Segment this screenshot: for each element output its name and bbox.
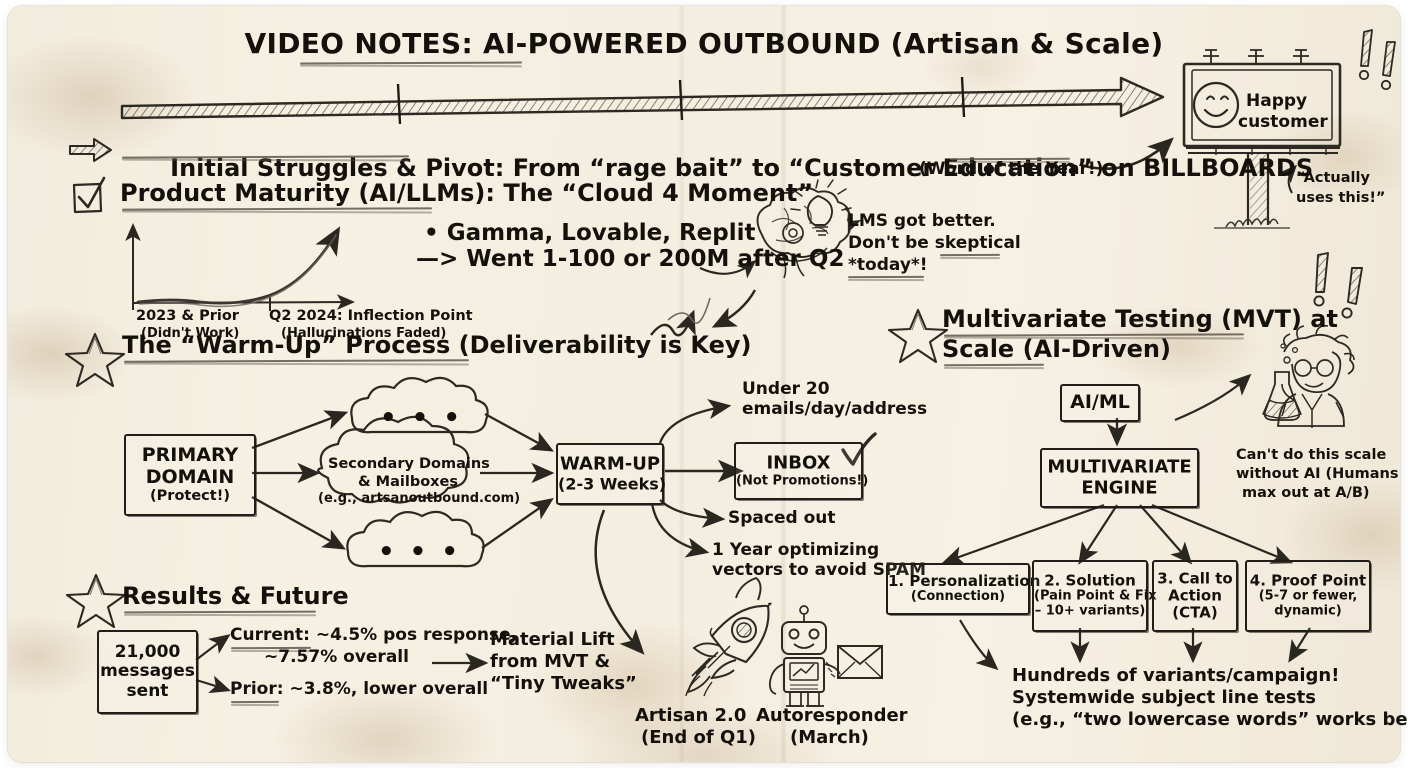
initial-underline-1 — [122, 156, 409, 162]
engine-labels: MULTIVARIATE ENGINE — [1042, 457, 1197, 498]
warmup-underline — [124, 360, 469, 366]
mvt-component-box-1[interactable]: 1. Personalization (Connection) — [886, 563, 1030, 615]
warmup-box-line1: WARM-UP — [558, 455, 662, 476]
engine-line2: ENGINE — [1042, 478, 1197, 499]
mvt-comp-2-sub2: – 10+ variants) — [1034, 605, 1146, 620]
branch-3-line1: 1 Year optimizing — [712, 541, 879, 560]
brain-note-line3: *today*! — [848, 256, 928, 275]
branch-1-line2: emails/day/address — [742, 400, 927, 419]
messages-sent-box[interactable]: 21,000 messages sent — [97, 630, 198, 714]
warmup-box-line2: (2-3 Weeks) — [558, 475, 662, 493]
branch-1-line1: Under 20 — [742, 380, 830, 399]
billboard-line1: Happy — [1246, 92, 1307, 111]
mvt-component-box-2[interactable]: 2. Solution (Pain Point & Fix – 10+ vari… — [1032, 560, 1148, 632]
whiteboard-page: VIDEO NOTES: AI-POWERED OUTBOUND (Artisa… — [0, 0, 1408, 768]
cloud-bottom-dots: • • • — [378, 538, 461, 568]
mvt-comp-4-labels: 4. Proof Point (5-7 or fewer, dynamic) — [1247, 573, 1369, 620]
mvt-comp-4-sub1: (5-7 or fewer, — [1247, 590, 1369, 605]
results-prior-underline — [231, 701, 279, 707]
mvt-component-box-4[interactable]: 4. Proof Point (5-7 or fewer, dynamic) — [1245, 560, 1371, 632]
billboard-callout-line2: uses this!” — [1296, 190, 1385, 207]
messages-line3: sent — [99, 682, 196, 701]
messages-line2: messages — [99, 662, 196, 681]
title-underline — [300, 62, 522, 68]
scientist-note-line3: max out at A/B) — [1242, 485, 1370, 502]
primary-domain-line2: DOMAIN — [126, 467, 254, 489]
inbox-labels: INBOX (Not Promotions!) — [736, 453, 861, 488]
material-lift-line1: Material Lift — [490, 630, 615, 651]
material-lift-line2: from MVT & — [490, 652, 610, 673]
cloud-mid-line3: (e.g., artsanoutbound.com) — [318, 492, 498, 507]
mvt-underline-2 — [944, 364, 1044, 370]
primary-domain-line3: (Protect!) — [126, 488, 254, 505]
warmup-box[interactable]: WARM-UP (2-3 Weeks) — [556, 443, 664, 505]
results-current-line1: Current: ~4.5% pos response, — [230, 626, 517, 645]
aiml-box[interactable]: AI/ML — [1060, 384, 1140, 422]
multivariate-engine-box[interactable]: MULTIVARIATE ENGINE — [1040, 448, 1199, 508]
scientist-note-line2: without AI (Humans — [1236, 466, 1398, 483]
brain-note-underline-2 — [848, 276, 924, 282]
mvt-heading-line1: Multivariate Testing (MVT) at — [942, 306, 1338, 333]
billboard-line2: customer — [1238, 113, 1328, 132]
maturity-underline — [122, 208, 432, 214]
warmup-heading: The “Warm-Up” Process (Deliverability is… — [122, 332, 751, 359]
rocket-line2: (End of Q1) — [641, 728, 756, 749]
maturity-bullet-1: • Gamma, Lovable, Replit — [424, 220, 756, 246]
mvt-comp-1-labels: 1. Personalization (Connection) — [888, 573, 1028, 605]
inbox-line2: (Not Promotions!) — [736, 474, 861, 489]
mvt-comp-1-title: 1. Personalization — [888, 573, 1028, 590]
mvt-comp-1-sub1: (Connection) — [888, 590, 1028, 605]
results-current-line2: ~7.57% overall — [264, 648, 409, 667]
mvt-comp-3-sub1: Action — [1154, 587, 1236, 604]
branch-2-line1: Spaced out — [728, 509, 836, 528]
mvt-comp-4-title: 4. Proof Point — [1247, 573, 1369, 590]
results-underline — [124, 611, 316, 617]
word-of-year-note: (Word of the Year!) — [919, 160, 1103, 179]
mvt-comp-2-sub1: (Pain Point & Fix — [1034, 590, 1146, 605]
brain-note-line1: LMS got better. — [848, 212, 996, 231]
warmup-box-labels: WARM-UP (2-3 Weeks) — [558, 455, 662, 494]
mvt-comp-3-labels: 3. Call to Action (CTA) — [1154, 570, 1236, 621]
brain-note-underline-1 — [940, 254, 1000, 260]
maturity-bullet-2: —> Went 1-100 or 200M after Q2 — [416, 246, 844, 272]
mvt-comp-2-title: 2. Solution — [1034, 573, 1146, 590]
brain-note-line2: Don't be skeptical — [848, 234, 1021, 253]
mvt-comp-4-sub2: dynamic) — [1247, 605, 1369, 620]
messages-labels: 21,000 messages sent — [99, 643, 196, 701]
results-prior: Prior: ~3.8%, lower overall — [230, 680, 488, 699]
billboard-callout-line1: “Actually — [1296, 170, 1370, 187]
mvt-comp-3-title: 3. Call to — [1154, 570, 1236, 587]
chart-xlabel-2: Q2 2024: Inflection Point — [269, 308, 473, 325]
robot-line1: Autoresponder — [756, 706, 908, 727]
primary-domain-labels: PRIMARY DOMAIN (Protect!) — [126, 445, 254, 505]
page-title: VIDEO NOTES: AI-POWERED OUTBOUND (Artisa… — [0, 28, 1408, 60]
cloud-mid-line1: Secondary Domains — [328, 456, 488, 473]
cloud-mid-line2: & Mailboxes — [328, 474, 488, 491]
messages-line1: 21,000 — [99, 643, 196, 662]
text-layer: VIDEO NOTES: AI-POWERED OUTBOUND (Artisa… — [0, 0, 1408, 768]
mvt-outcome-line3: (e.g., “two lowercase words” works best) — [1012, 710, 1408, 731]
mvt-comp-2-labels: 2. Solution (Pain Point & Fix – 10+ vari… — [1034, 573, 1146, 620]
mvt-component-box-3[interactable]: 3. Call to Action (CTA) — [1152, 560, 1238, 632]
product-maturity-heading: Product Maturity (AI/LLMs): The “Cloud 4… — [120, 180, 813, 207]
mvt-outcome-line2: Systemwide subject line tests — [1012, 688, 1316, 709]
primary-domain-box[interactable]: PRIMARY DOMAIN (Protect!) — [124, 434, 256, 516]
rocket-line1: Artisan 2.0 — [635, 706, 746, 727]
material-lift-line3: “Tiny Tweaks” — [490, 674, 637, 695]
mvt-outcome-line1: Hundreds of variants/campaign! — [1012, 666, 1339, 687]
aiml-label: AI/ML — [1062, 392, 1138, 414]
results-heading: Results & Future — [122, 583, 349, 610]
inbox-box[interactable]: INBOX (Not Promotions!) — [734, 442, 863, 500]
engine-line1: MULTIVARIATE — [1042, 457, 1197, 478]
chart-xlabel-1: 2023 & Prior — [136, 308, 239, 325]
mvt-heading-line2: Scale (AI-Driven) — [942, 336, 1171, 363]
inbox-line1: INBOX — [736, 453, 861, 474]
mvt-comp-3-sub2: (CTA) — [1154, 605, 1236, 622]
scientist-note-line1: Can't do this scale — [1236, 447, 1386, 464]
robot-line2: (March) — [790, 728, 869, 749]
primary-domain-line1: PRIMARY — [126, 445, 254, 467]
cloud-top-dots: • • • — [380, 404, 463, 434]
